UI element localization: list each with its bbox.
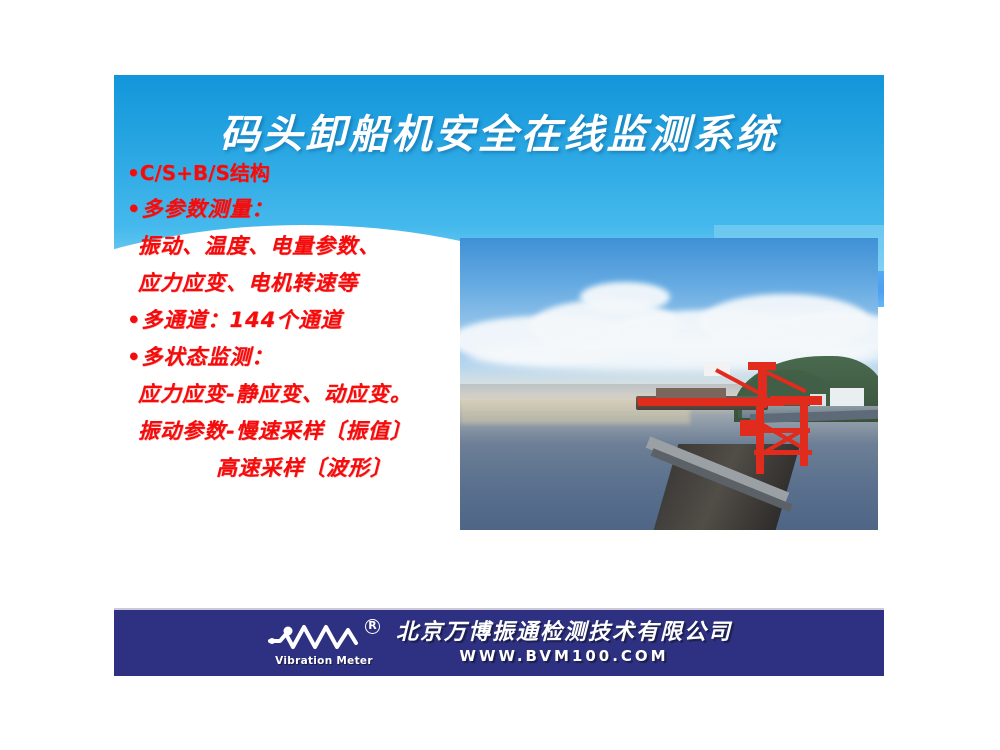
crane-tie-rod [765,370,806,393]
crane-leg [800,404,808,466]
bullet-list: •C/S+B/S结构 •多参数测量： 振动、温度、电量参数、 应力应变、电机转速… [124,163,494,493]
footer-text-group: 北京万博振通检测技术有限公司 WWW.BVM100.COM [396,621,732,664]
slide-root: 码头卸船机安全在线监测系统 •C/S+B/S结构 •多参数测量： 振动、温度、电… [0,0,1000,750]
crane-boom-rear [770,396,822,405]
registered-trademark-icon: R [365,619,380,634]
page-title: 码头卸船机安全在线监测系统 [114,102,884,160]
bullet-item-9: 高速采样〔波形〕 [216,458,494,479]
company-name: 北京万博振通检测技术有限公司 [396,621,732,645]
bullet-item-7: 应力应变-静应变、动应变。 [138,384,494,405]
bullet-item-5: •多通道：144个通道 [127,310,494,331]
crane-machinery-house [740,420,764,436]
crane-girder [754,450,812,455]
crane-head [748,362,776,370]
logo-subtitle: Vibration Meter [268,655,380,667]
bullet-item-1: •C/S+B/S结构 [127,163,494,183]
bullet-item-3: 振动、温度、电量参数、 [138,236,494,257]
company-website[interactable]: WWW.BVM100.COM [459,647,668,665]
company-logo: R Vibration Meter [266,619,382,667]
photo-ship-unloader-crane [704,362,824,474]
crane-leg [756,404,764,474]
footer-bar: R Vibration Meter 北京万博振通检测技术有限公司 WWW.BVM… [114,608,884,676]
crane-girder [756,428,810,433]
harbor-crane-photo [460,238,878,530]
bullet-item-2: •多参数测量： [127,199,494,220]
bullet-item-6: •多状态监测： [127,347,494,368]
bullet-item-4: 应力应变、电机转速等 [138,273,494,294]
bullet-item-8: 振动参数-慢速采样〔振值〕 [138,421,494,442]
slide-canvas: 码头卸船机安全在线监测系统 •C/S+B/S结构 •多参数测量： 振动、温度、电… [114,75,884,610]
